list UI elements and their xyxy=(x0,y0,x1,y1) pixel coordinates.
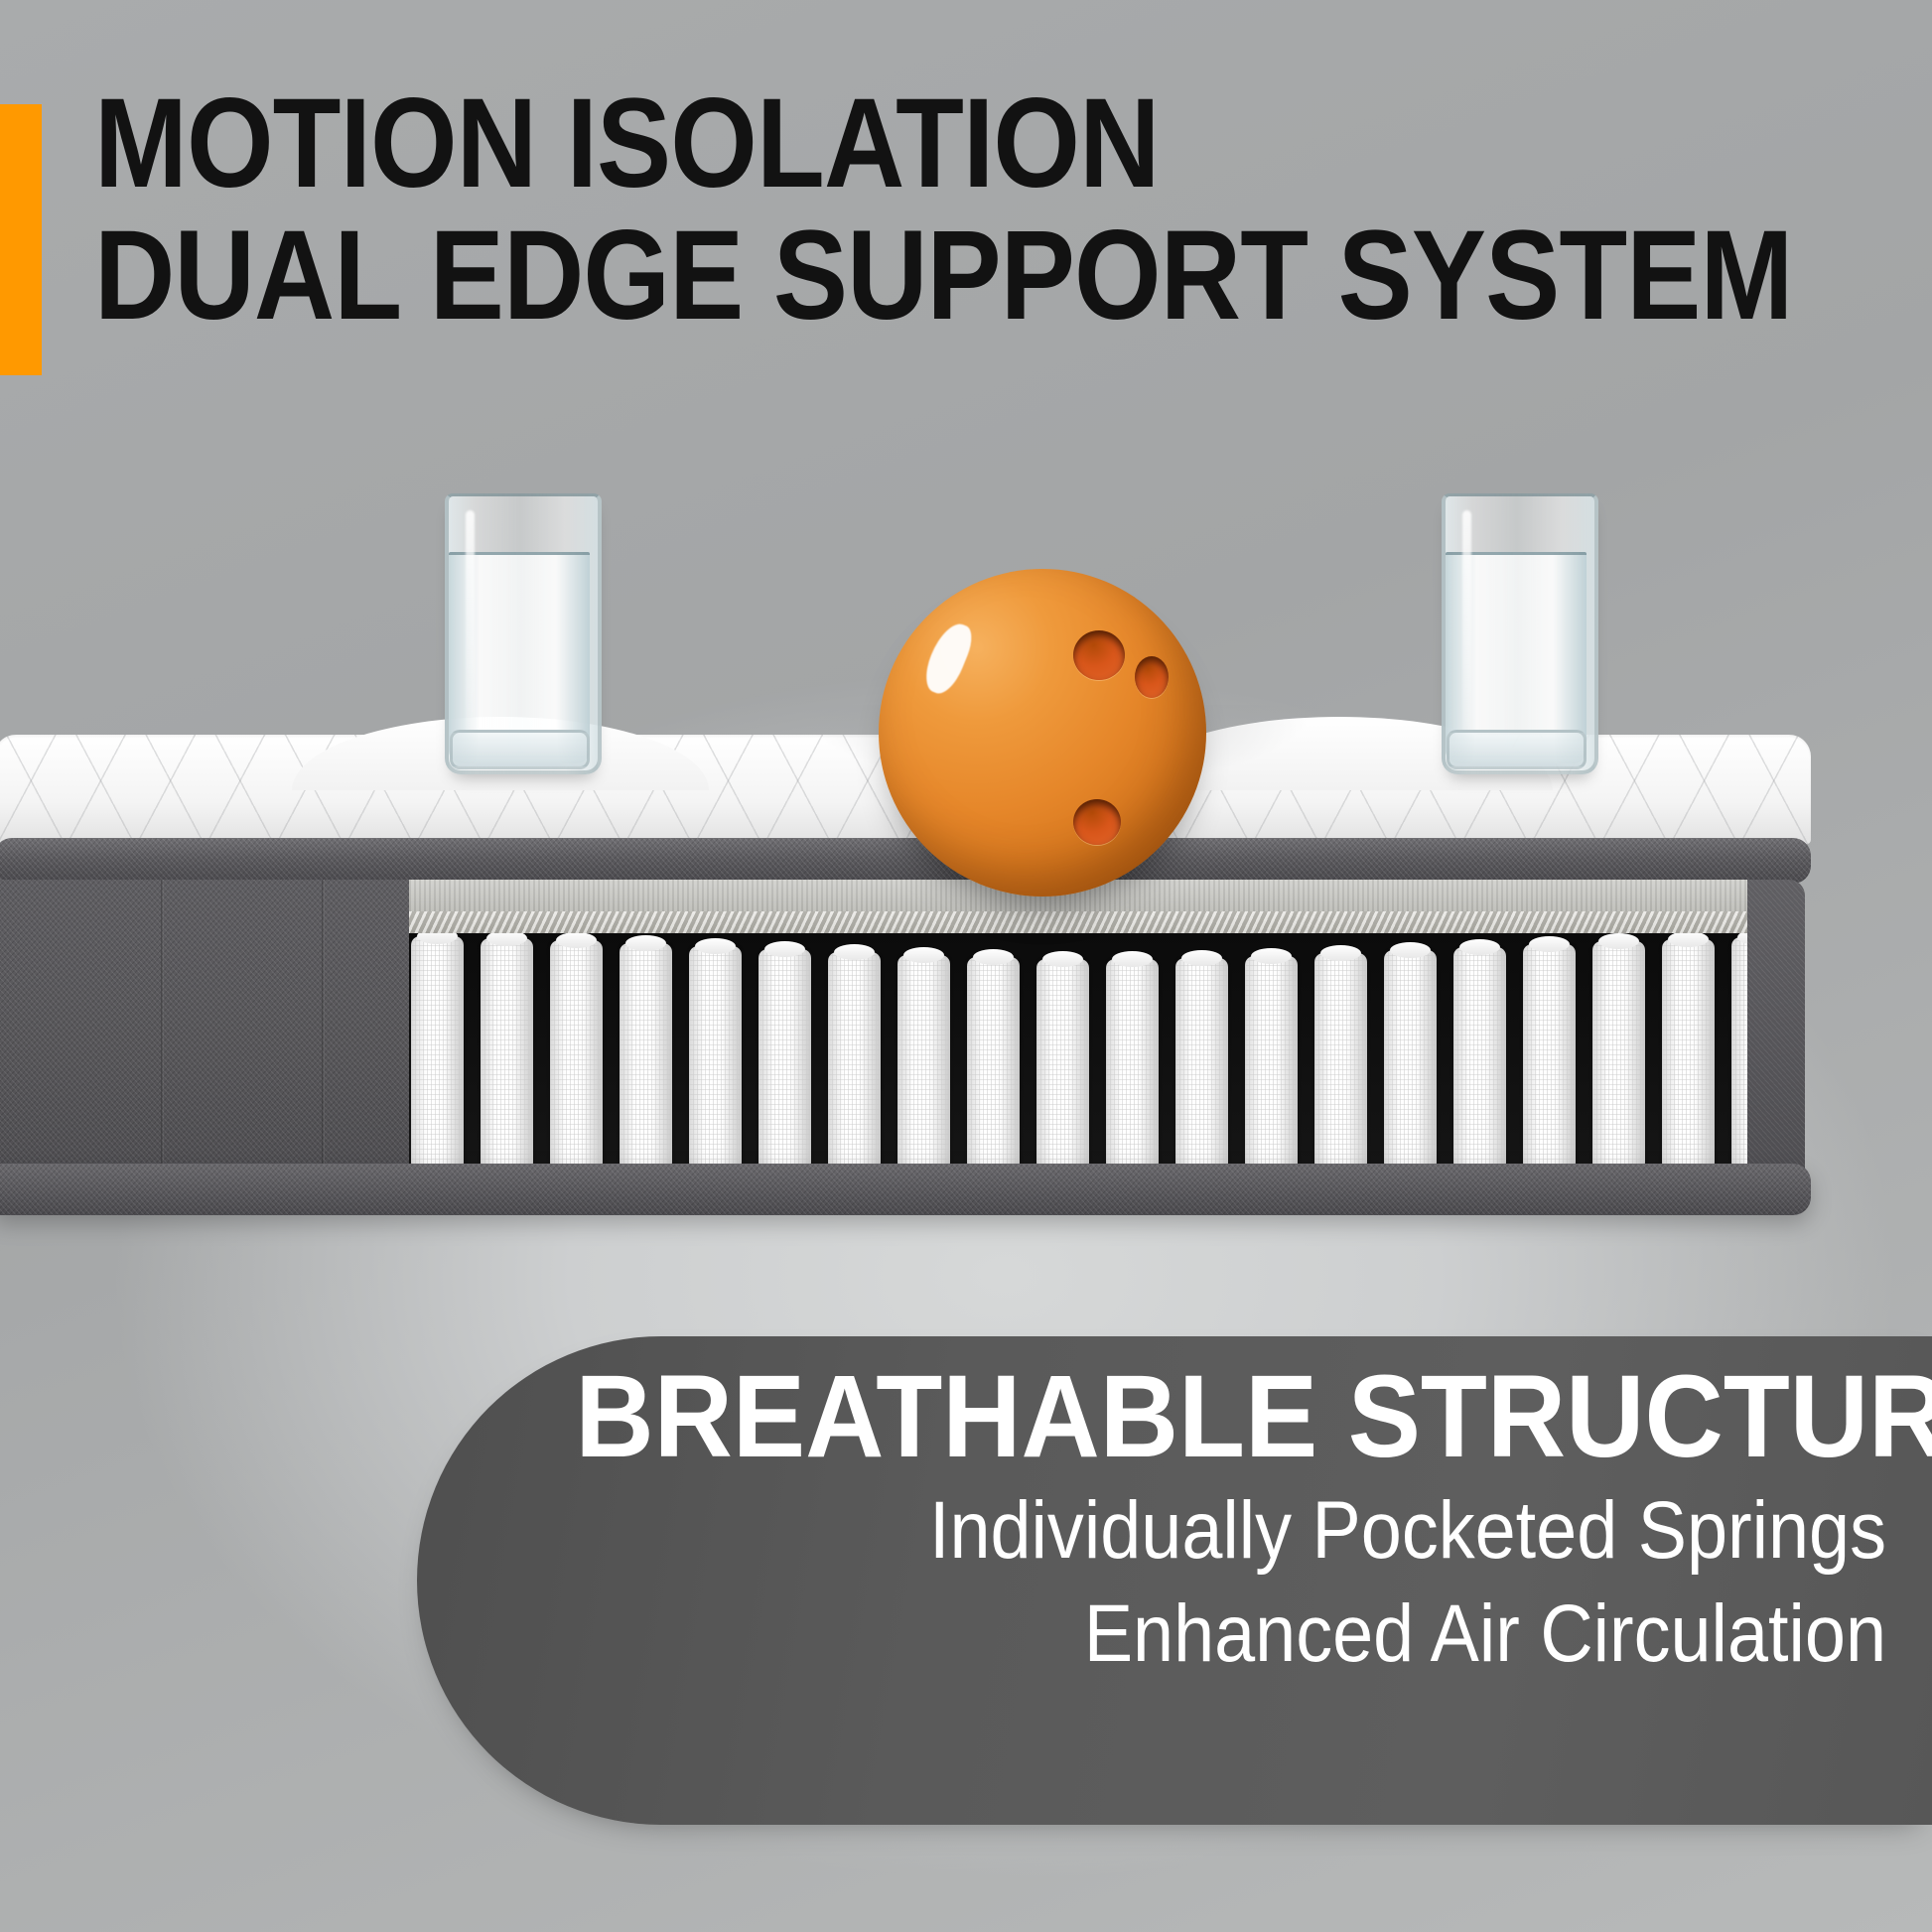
pocketed-spring xyxy=(1106,959,1159,1170)
ball-thumb-hole xyxy=(1073,799,1121,845)
pocketed-spring xyxy=(1314,953,1367,1170)
pocketed-spring xyxy=(897,955,950,1170)
upper-edge-rail xyxy=(0,838,1811,884)
lower-edge-rail xyxy=(0,1164,1811,1215)
right-edge-support-cap xyxy=(1747,880,1805,1209)
headline-line-2: DUAL EDGE SUPPORT SYSTEM xyxy=(94,209,1597,342)
pocketed-spring-layer xyxy=(411,933,1749,1170)
callout-subtitle-2: Enhanced Air Circulation xyxy=(618,1583,1886,1686)
ball-finger-hole-1 xyxy=(1073,630,1125,680)
pocketed-spring xyxy=(1453,947,1506,1170)
callout-title: BREATHABLE STRUCTURE xyxy=(575,1354,1886,1479)
pocketed-spring xyxy=(1384,950,1437,1170)
pocketed-spring xyxy=(1036,959,1089,1170)
ball-highlight xyxy=(918,618,977,698)
pocketed-spring xyxy=(1523,944,1576,1170)
page-title: MOTION ISOLATION DUAL EDGE SUPPORT SYSTE… xyxy=(94,77,1597,342)
callout-subtitle-1: Individually Pocketed Springs xyxy=(618,1479,1886,1583)
pocketed-spring xyxy=(689,946,742,1170)
pocketed-spring xyxy=(1175,958,1228,1170)
pocketed-spring xyxy=(1662,939,1715,1170)
left-side-fabric-panel xyxy=(0,880,409,1209)
pocketed-spring xyxy=(620,943,672,1170)
pocketed-spring xyxy=(1245,956,1298,1170)
water-glass-left xyxy=(445,493,594,767)
orange-accent-bar xyxy=(0,104,42,375)
pocketed-spring xyxy=(411,936,464,1170)
pocketed-spring xyxy=(759,949,811,1170)
ball-finger-hole-2 xyxy=(1135,656,1169,698)
pocketed-spring xyxy=(967,957,1020,1170)
breathable-structure-callout: BREATHABLE STRUCTURE Individually Pocket… xyxy=(417,1336,1932,1825)
bowling-ball xyxy=(879,569,1206,897)
headline-line-1: MOTION ISOLATION xyxy=(94,77,1597,209)
water-glass-right xyxy=(1442,493,1590,767)
pocketed-spring xyxy=(828,952,881,1170)
pocketed-spring xyxy=(481,938,533,1170)
product-feature-banner: MOTION ISOLATION DUAL EDGE SUPPORT SYSTE… xyxy=(0,0,1932,1932)
pocketed-spring xyxy=(1592,941,1645,1170)
felt-pad-layer xyxy=(409,911,1749,935)
pocketed-spring xyxy=(550,940,603,1170)
